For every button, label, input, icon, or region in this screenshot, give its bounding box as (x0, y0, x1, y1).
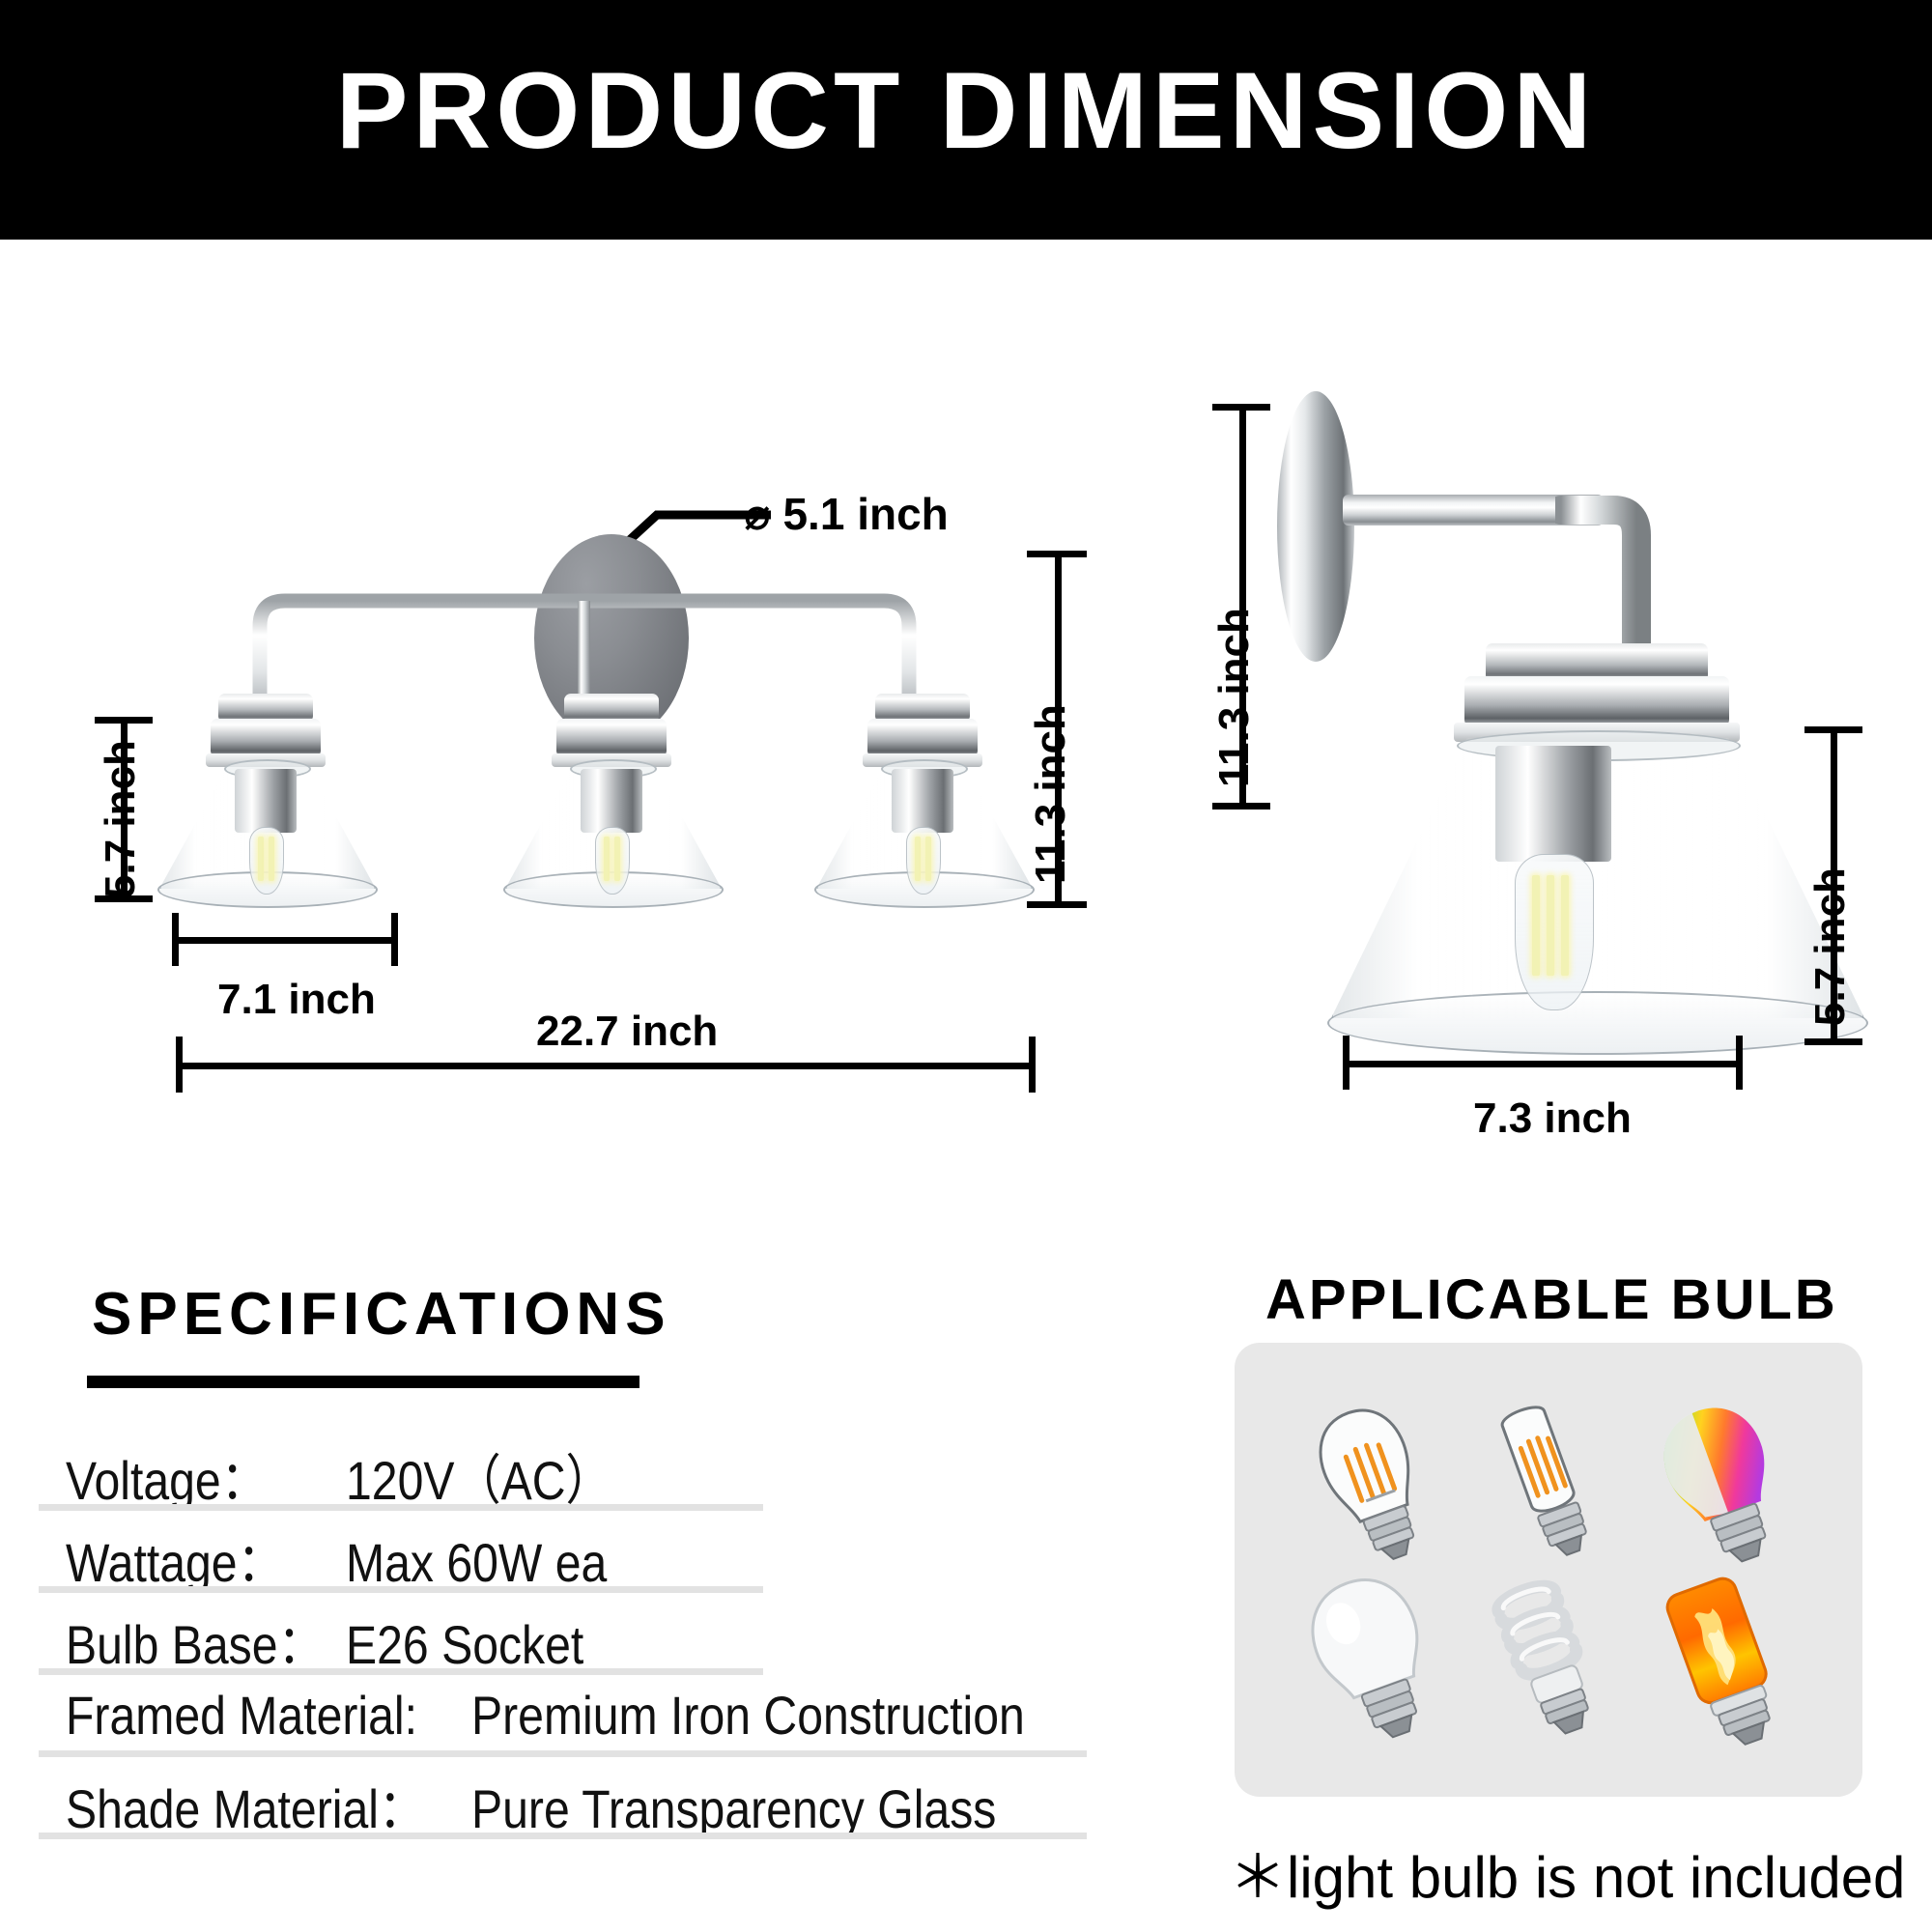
bulb-not-included-note: ＊light bulb is not included (1229, 1831, 1905, 1915)
side-wall-backplate (1277, 391, 1354, 662)
spec-row-framed-material: Framed Material:Premium Iron Constructio… (66, 1684, 1115, 1747)
specifications-underline (87, 1376, 639, 1388)
edison-st64-bulb-icon (1302, 1391, 1447, 1584)
spec-separator (39, 1750, 1087, 1757)
spec-label-framed-material: Framed Material: (66, 1684, 414, 1747)
flame-effect-bulb-icon (1652, 1565, 1797, 1758)
page-title: PRODUCT DIMENSION (0, 48, 1932, 174)
spec-separator (39, 1668, 763, 1675)
edison-t45-bulb-icon (1476, 1391, 1621, 1584)
side-arm-elbow (1555, 481, 1662, 665)
side-shade-bottom-rim (1327, 991, 1868, 1055)
spec-value-wattage: Max 60W ea (346, 1531, 607, 1594)
applicable-bulb-title: APPLICABLE BULB (1265, 1267, 1838, 1332)
spec-value-bulb-base: E26 Socket (346, 1613, 583, 1676)
front-shade-height-label: 5.7 inch (97, 740, 145, 898)
spec-separator (39, 1504, 763, 1511)
side-shade-width-label: 7.3 inch (1473, 1094, 1632, 1143)
front-shade-width-label: 7.1 inch (217, 976, 376, 1024)
side-shade-height-label: 5.7 inch (1806, 867, 1855, 1026)
side-filament-bulb (1515, 854, 1594, 1010)
spec-separator (39, 1833, 1087, 1839)
led-a19-bulb-icon (1302, 1565, 1447, 1758)
header-banner: PRODUCT DIMENSION (0, 0, 1932, 240)
side-socket-sleeve (1495, 746, 1611, 862)
spec-value-shade-material: Pure Transparency Glass (471, 1777, 996, 1840)
product-dimension-infographic: PRODUCT DIMENSION ⌀ 5.1 inch (0, 0, 1932, 1932)
front-total-height-label: 11.3 inch (1027, 704, 1075, 884)
cfl-spiral-bulb-icon (1476, 1565, 1621, 1758)
side-total-height-label: 11.3 inch (1210, 608, 1259, 787)
spec-value-framed-material: Premium Iron Construction (471, 1684, 1025, 1747)
specifications-title: SPECIFICATIONS (92, 1280, 671, 1349)
diameter-callout-label: ⌀ 5.1 inch (744, 488, 949, 540)
front-total-width-label: 22.7 inch (536, 1008, 718, 1056)
spec-separator (39, 1586, 763, 1593)
side-collar-lower (1464, 676, 1729, 726)
rgb-smart-bulb-icon (1652, 1391, 1797, 1584)
